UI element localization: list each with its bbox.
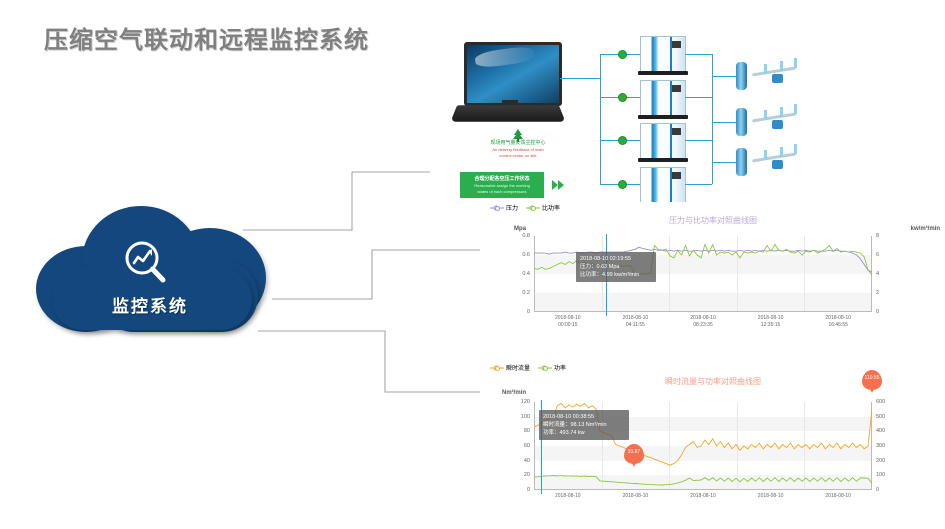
node-dot-4 — [618, 180, 627, 189]
chart1-tooltip: 2018-08-10 02:19:55 压力：0.63 Mpa 比功率：4.99… — [576, 252, 656, 282]
x-axis-tick: 2018-08-1000:00:15 — [540, 315, 596, 329]
y-axis-tick-right: 8 — [876, 233, 900, 239]
compressor-1 — [640, 36, 686, 72]
chart1-legend-label-0: 压力 — [506, 203, 518, 212]
compressor-2 — [640, 80, 686, 116]
x-tick-date: 2018-08-10 — [743, 493, 799, 500]
y-axis-tick-left: 120 — [498, 399, 530, 405]
x-tick-time: 12:35:15 — [743, 322, 799, 329]
arrow-right-icon — [552, 179, 566, 191]
x-tick-date: 2018-08-10 — [810, 315, 866, 322]
chart2-ylabel-left: Nm³/min — [502, 390, 526, 396]
chart1-legend-item-1[interactable]: 比功率 — [526, 203, 560, 212]
y-axis-tick-left: 80 — [498, 428, 530, 434]
x-axis-tick: 2018-08-10 — [607, 493, 663, 500]
chart2-marker-pin-0[interactable]: 33.87 — [624, 444, 644, 464]
x-tick-date: 2018-08-10 — [607, 315, 663, 322]
chart1-tooltip-line2: 比功率：4.99 kw/m³/min — [580, 271, 652, 279]
x-tick-date: 2018-08-10 — [810, 493, 866, 500]
x-axis-tick: 2018-08-10 — [810, 493, 866, 500]
x-axis-tick: 2018-08-10 — [675, 493, 731, 500]
compressor-3 — [640, 123, 686, 159]
chart2-legend-label-0: 瞬时流量 — [506, 363, 530, 372]
x-tick-date: 2018-08-10 — [743, 315, 799, 322]
node-dot-2 — [618, 93, 627, 102]
x-tick-date: 2018-08-10 — [675, 315, 731, 322]
y-axis-tick-left: 0 — [498, 487, 530, 493]
chart2-legend[interactable]: 瞬时流量 功率 — [490, 363, 566, 372]
magnifier-chart-icon — [118, 236, 174, 292]
page-title: 压缩空气联动和远程监控系统 — [44, 20, 369, 55]
chart2-legend-item-1[interactable]: 功率 — [538, 363, 566, 372]
chart2-tooltip-timestamp: 2018-08-10 00:38:55 — [543, 413, 625, 421]
y-axis-tick-right: 200 — [876, 458, 900, 464]
chart2-tooltip-line1: 瞬时流量：98.13 Nm³/min — [543, 421, 625, 429]
x-tick-date: 2018-08-10 — [540, 315, 596, 322]
x-tick-time: 16:46:55 — [810, 322, 866, 329]
x-tick-date: 2018-08-10 — [540, 493, 596, 500]
y-axis-tick-right: 0 — [876, 487, 900, 493]
chart1-legend[interactable]: 压力 比功率 — [490, 203, 560, 212]
y-axis-tick-left: 0.8 — [498, 233, 530, 239]
y-axis-tick-left: 0.6 — [498, 252, 530, 258]
x-tick-date: 2018-08-10 — [607, 493, 663, 500]
chart1-ylabel-left: Mpa — [514, 226, 526, 232]
y-axis-tick-right: 600 — [876, 399, 900, 405]
legend-marker-icon — [490, 365, 504, 371]
chart1-tooltip-line1: 压力：0.63 Mpa — [580, 263, 652, 271]
x-tick-time: 00:00:15 — [540, 322, 596, 329]
feedback-label-en-2: control center on site — [460, 153, 576, 159]
y-axis-tick-left: 60 — [498, 443, 530, 449]
chart1-tooltip-timestamp: 2018-08-10 02:19:55 — [580, 255, 652, 263]
y-axis-tick-left: 40 — [498, 458, 530, 464]
node-dot-1 — [618, 50, 627, 59]
y-axis-tick-left: 0.2 — [498, 290, 530, 296]
x-axis-tick: 2018-08-10 — [743, 493, 799, 500]
y-axis-tick-right: 100 — [876, 472, 900, 478]
y-axis-tick-right: 500 — [876, 414, 900, 420]
chart2-tooltip: 2018-08-10 00:38:55 瞬时流量：98.13 Nm³/min 功… — [539, 410, 629, 440]
x-axis-tick: 2018-08-1012:35:15 — [743, 315, 799, 329]
feedback-label-cn: 现场用气量反馈主控中心 — [460, 140, 576, 147]
y-axis-tick-left: 20 — [498, 472, 530, 478]
y-axis-tick-left: 0.4 — [498, 271, 530, 277]
chart2-legend-item-0[interactable]: 瞬时流量 — [490, 363, 530, 372]
y-axis-tick-left: 100 — [498, 414, 530, 420]
cloud-label: 监控系统 — [36, 292, 264, 317]
chart2-marker-label-1: 110.55 — [865, 375, 880, 381]
instant-flow-vs-power-chart[interactable]: 瞬时流量 功率 瞬时流量与功率对照曲线图 Nm³/min 12010080604… — [484, 362, 942, 529]
assign-status-box: 合理分配各空压工作状态 Reasonable assign the workin… — [460, 172, 544, 198]
chart1-title: 压力与比功率对照曲线图 — [484, 215, 942, 226]
feedback-label: 现场用气量反馈主控中心 Air delivery feedback of mai… — [460, 140, 576, 159]
y-axis-tick-right: 2 — [876, 290, 900, 296]
x-axis-tick: 2018-08-1004:11:55 — [607, 315, 663, 329]
x-axis-tick: 2018-08-1016:46:55 — [810, 315, 866, 329]
pressure-vs-specific-power-chart[interactable]: 压力 比功率 压力与比功率对照曲线图 Mpa kw/m³/min 0.80.60… — [484, 202, 942, 330]
legend-marker-icon — [526, 205, 540, 211]
assign-box-cn: 合理分配各空压工作状态 — [474, 176, 529, 183]
chart1-legend-item-0[interactable]: 压力 — [490, 203, 518, 212]
legend-marker-icon — [538, 365, 552, 371]
x-tick-date: 2018-08-10 — [675, 493, 731, 500]
y-axis-tick-right: 0 — [876, 309, 900, 315]
y-axis-tick-right: 4 — [876, 271, 900, 277]
node-dot-3 — [618, 136, 627, 145]
x-axis-tick: 2018-08-1008:23:35 — [675, 315, 731, 329]
x-axis-tick: 2018-08-10 — [540, 493, 596, 500]
chart2-marker-label-0: 33.87 — [628, 449, 641, 455]
y-axis-tick-right: 300 — [876, 443, 900, 449]
y-axis-tick-right: 400 — [876, 428, 900, 434]
legend-marker-icon — [490, 205, 504, 211]
y-axis-tick-left: 0 — [498, 309, 530, 315]
chart2-legend-label-1: 功率 — [554, 363, 566, 372]
x-tick-time: 08:23:35 — [675, 322, 731, 329]
chart1-ylabel-right: kw/m³/min — [911, 226, 940, 232]
chart2-marker-pin-1[interactable]: 110.55 — [862, 370, 882, 390]
series-line-功率 — [534, 476, 872, 486]
compressed-air-system-diagram: 现场用气量反馈主控中心 Air delivery feedback of mai… — [432, 24, 942, 204]
monitoring-system-cloud[interactable]: 监控系统 — [36, 198, 288, 333]
chart2-tooltip-line2: 功率：493.74 kw — [543, 429, 625, 437]
y-axis-tick-right: 6 — [876, 252, 900, 258]
compressor-4 — [640, 167, 686, 203]
chart1-legend-label-1: 比功率 — [542, 203, 560, 212]
assign-box-en-2: states of each compressors — [478, 189, 527, 195]
x-tick-time: 04:11:55 — [607, 322, 663, 329]
